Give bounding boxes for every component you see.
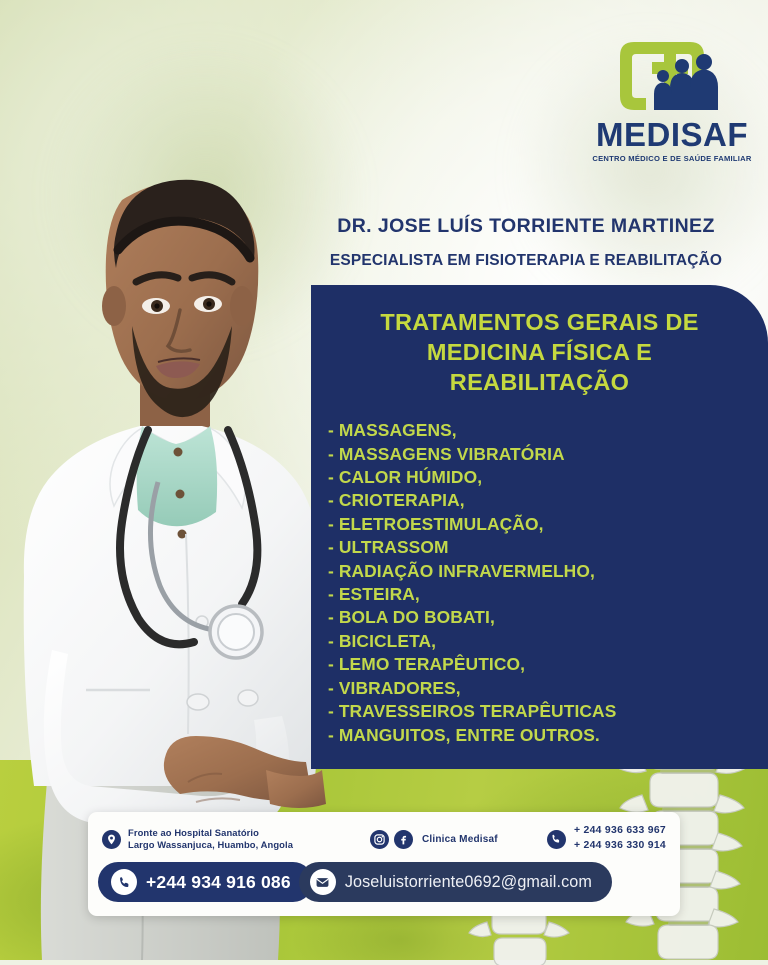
list-item: - BOLA DO BOBATI,	[328, 606, 768, 629]
social-block[interactable]: Clinica Medisaf	[370, 830, 540, 849]
list-item: - BICICLETA,	[328, 630, 768, 653]
social-handle: Clinica Medisaf	[422, 834, 498, 845]
address-block: Fronte ao Hospital Sanatório Largo Wassa…	[102, 827, 370, 852]
instagram-icon[interactable]	[370, 830, 389, 849]
list-item: - CALOR HÚMIDO,	[328, 466, 768, 489]
phone-number-1: + 244 936 633 967	[574, 825, 666, 836]
list-item: - ULTRASSOM	[328, 536, 768, 559]
email-pill[interactable]: Joseluistorriente0692@gmail.com	[299, 862, 612, 902]
treatments-list: - MASSAGENS, - MASSAGENS VIBRATÓRIA - CA…	[311, 419, 768, 747]
doctor-specialty: ESPECIALISTA EM FISIOTERAPIA E REABILITA…	[300, 252, 752, 269]
logo-tagline: CENTRO MÉDICO E DE SAÚDE FAMILIAR	[588, 154, 756, 163]
phone-numbers-text: + 244 936 633 967 + 244 936 330 914	[574, 824, 666, 854]
phone-number-2: + 244 936 330 914	[574, 840, 666, 851]
phones-block[interactable]: + 244 936 633 967 + 244 936 330 914	[547, 824, 666, 854]
address-text: Fronte ao Hospital Sanatório Largo Wassa…	[128, 827, 293, 852]
primary-phone-text: +244 934 916 086	[146, 872, 291, 893]
facebook-icon[interactable]	[394, 830, 413, 849]
brand-logo: MEDISAF CENTRO MÉDICO E DE SAÚDE FAMILIA…	[588, 36, 756, 168]
list-item: - MANGUITOS, ENTRE OUTROS.	[328, 724, 768, 747]
location-pin-icon	[102, 830, 121, 849]
panel-title-line-1: TRATAMENTOS GERAIS DE	[345, 307, 734, 337]
doctor-name: DR. JOSE LUÍS TORRIENTE MARTINEZ	[300, 216, 752, 237]
primary-phone-pill[interactable]: +244 934 916 086	[98, 862, 313, 902]
panel-title: TRATAMENTOS GERAIS DE MEDICINA FÍSICA E …	[311, 307, 768, 397]
logo-wordmark: MEDISAF	[588, 118, 756, 151]
contact-card-top-row: Fronte ao Hospital Sanatório Largo Wassa…	[88, 812, 680, 860]
list-item: - RADIAÇÃO INFRAVERMELHO,	[328, 560, 768, 583]
list-item: - ESTEIRA,	[328, 583, 768, 606]
medisaf-logo-icon	[616, 36, 728, 116]
panel-title-line-3: REABILITAÇÃO	[345, 367, 734, 397]
list-item: - ELETROESTIMULAÇÃO,	[328, 513, 768, 536]
address-line-1: Fronte ao Hospital Sanatório	[128, 827, 259, 838]
treatments-panel: TRATAMENTOS GERAIS DE MEDICINA FÍSICA E …	[311, 285, 768, 769]
list-item: - MASSAGENS VIBRATÓRIA	[328, 443, 768, 466]
list-item: - CRIOTERAPIA,	[328, 489, 768, 512]
panel-title-line-2: MEDICINA FÍSICA E	[345, 337, 734, 367]
contact-card: Fronte ao Hospital Sanatório Largo Wassa…	[88, 812, 680, 916]
email-icon	[310, 869, 336, 895]
list-item: - LEMO TERAPÊUTICO,	[328, 653, 768, 676]
address-line-2: Largo Wassanjuca, Huambo, Angola	[128, 839, 293, 850]
list-item: - MASSAGENS,	[328, 419, 768, 442]
phone-filled-icon	[111, 869, 137, 895]
contact-card-bottom-row: +244 934 916 086 Joseluistorriente0692@g…	[88, 862, 680, 902]
phone-icon	[547, 830, 566, 849]
email-text: Joseluistorriente0692@gmail.com	[345, 873, 592, 892]
list-item: - TRAVESSEIROS TERAPÊUTICAS	[328, 700, 768, 723]
list-item: - VIBRADORES,	[328, 677, 768, 700]
